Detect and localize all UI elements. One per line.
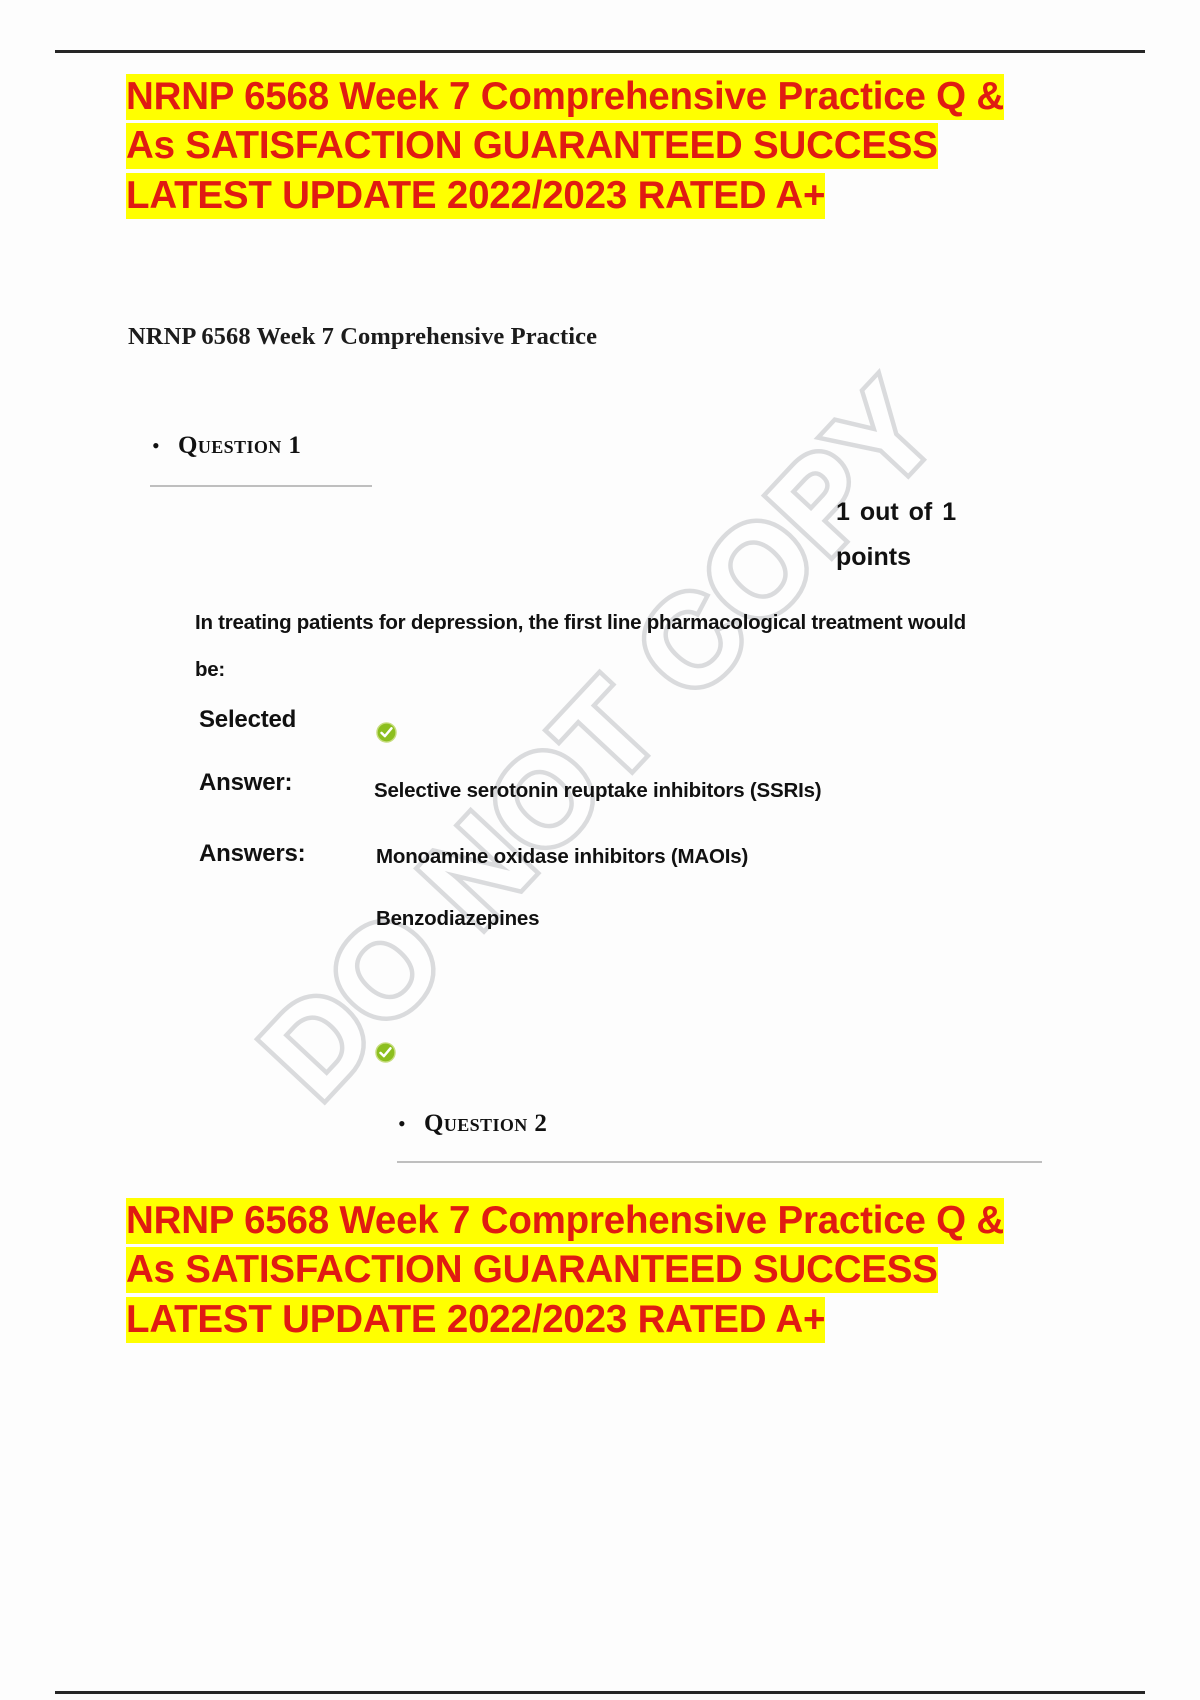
selected-answer-label-line-1: Selected [199,706,296,734]
answers-label: Answers: [199,840,305,868]
question-1-points-line-2: points [836,535,1036,580]
question-1-header: • Question 1 [152,432,301,460]
answer-option: Monoamine oxidase inhibitors (MAOIs) [376,845,748,869]
question-1-divider [150,485,372,487]
document-title-top-text: NRNP 6568 Week 7 Comprehensive Practice … [126,74,1004,219]
question-1-points-line-1: 1 out of 1 [836,490,1036,535]
question-2-header: • Question 2 [398,1110,547,1138]
document-title-top: NRNP 6568 Week 7 Comprehensive Practice … [126,72,1056,220]
bullet-icon: • [152,435,178,457]
check-circle-icon [376,722,397,743]
page-bottom-rule [55,1691,1145,1694]
question-1-text: In treating patients for depression, the… [195,600,985,693]
document-subheading: NRNP 6568 Week 7 Comprehensive Practice [128,323,597,351]
document-title-bottom: NRNP 6568 Week 7 Comprehensive Practice … [126,1196,1056,1344]
question-2-label: Question 2 [424,1110,547,1138]
document-page: DO NOT COPY NRNP 6568 Week 7 Comprehensi… [0,0,1200,1700]
bullet-icon: • [398,1113,424,1135]
do-not-copy-watermark: DO NOT COPY [233,354,967,1126]
question-1-label: Question 1 [178,432,301,460]
page-top-rule [55,50,1145,53]
selected-answer-label-line-2: Answer: [199,769,292,797]
check-circle-icon [375,1042,396,1063]
question-2-divider [397,1161,1042,1163]
question-1-points: 1 out of 1 points [836,490,1036,579]
answer-option: Benzodiazepines [376,907,539,931]
document-title-bottom-text: NRNP 6568 Week 7 Comprehensive Practice … [126,1198,1004,1343]
selected-answer-text: Selective serotonin reuptake inhibitors … [374,779,821,803]
